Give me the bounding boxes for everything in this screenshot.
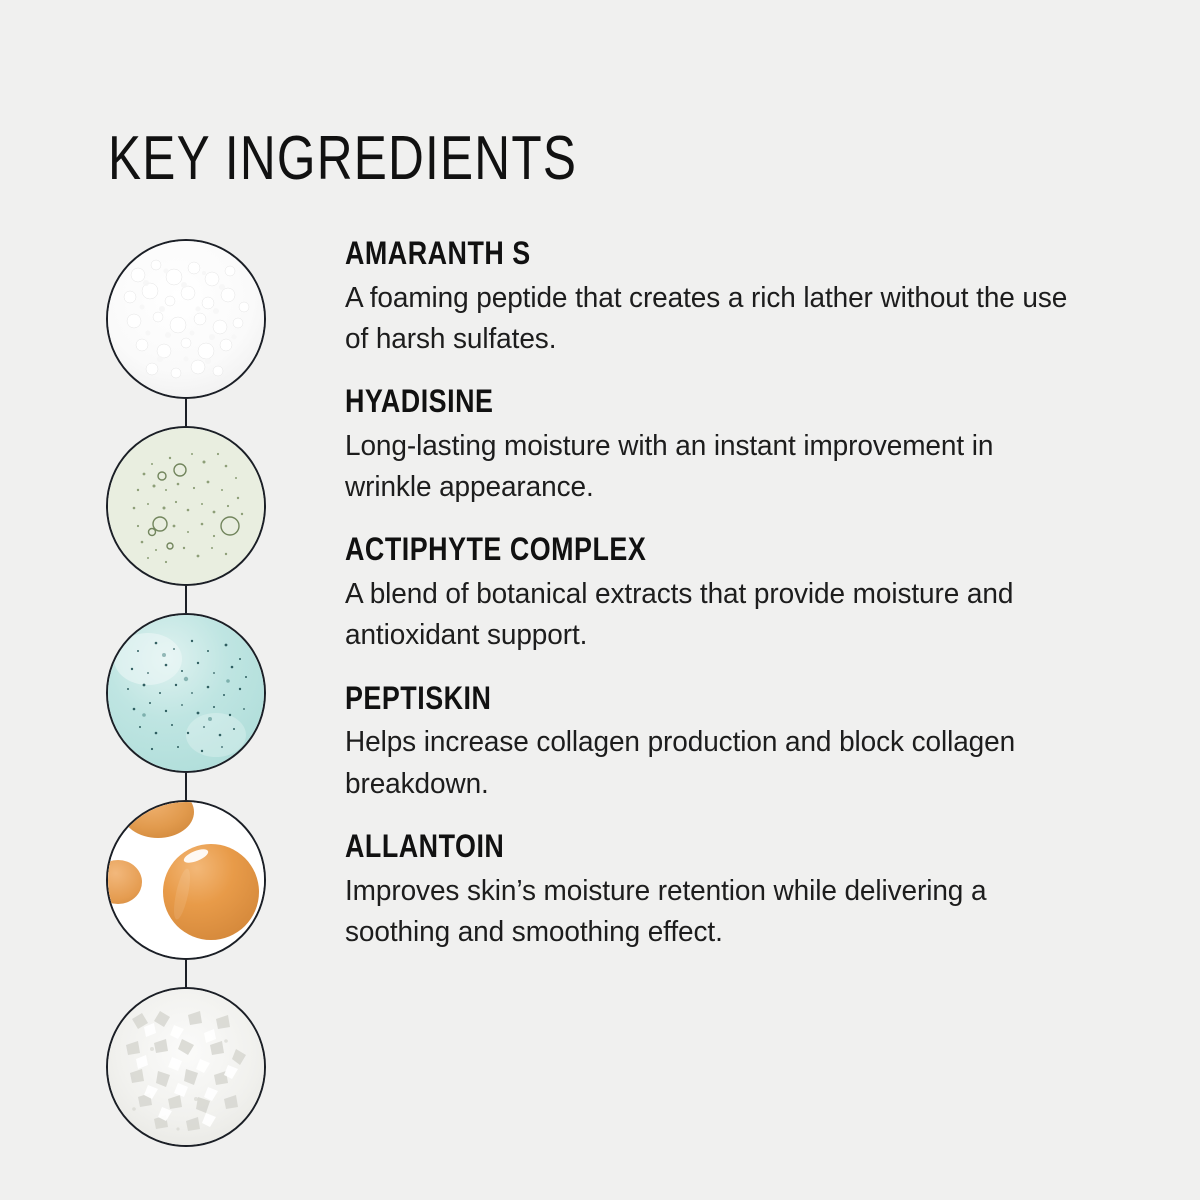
orange-droplets-swatch [106,800,266,960]
ingredient-description: Improves skin’s moisture retention while… [345,871,1078,953]
swatch-connector-line [185,399,187,426]
pale-green-gel-swatch [106,426,266,586]
ingredient-description: Helps increase collagen production and b… [345,722,1078,804]
swatch-connector-line [185,586,187,613]
ingredients-content: AMARANTH S A foaming peptide that create… [0,0,1200,1200]
ingredient-name: ACTIPHYTE COMPLEX [345,532,983,568]
ingredient-block-peptiskin: PEPTISKIN Helps increase collagen produc… [345,681,1105,805]
swatch-row-amaranth-s [106,239,266,399]
ingredient-description: A blend of botanical extracts that provi… [345,574,1078,656]
ingredient-name: HYADISINE [345,384,983,420]
key-ingredients-panel: KEY INGREDIENTS [0,0,1200,1200]
swatch-row-hyadisine [106,426,266,586]
swatch-connector-line [185,960,187,987]
ingredient-swatch-rail [106,239,266,1149]
ingredient-block-amaranth-s: AMARANTH S A foaming peptide that create… [345,236,1105,360]
swatch-row-peptiskin [106,800,266,960]
ingredient-text-column: AMARANTH S A foaming peptide that create… [345,236,1105,953]
ingredient-name: PEPTISKIN [345,681,983,717]
aqua-speckled-gel-swatch [106,613,266,773]
swatch-connector-line [185,773,187,800]
ingredient-block-allantoin: ALLANTOIN Improves skin’s moisture reten… [345,829,1105,953]
ingredient-description: A foaming peptide that creates a rich la… [345,278,1078,360]
ingredient-description: Long-lasting moisture with an instant im… [345,426,1078,508]
ingredient-name: ALLANTOIN [345,829,983,865]
swatch-row-allantoin [106,987,266,1147]
ingredient-name: AMARANTH S [345,236,983,272]
ingredient-block-hyadisine: HYADISINE Long-lasting moisture with an … [345,384,1105,508]
white-crystal-powder-swatch [106,987,266,1147]
swatch-row-actiphyte-complex [106,613,266,773]
ingredient-block-actiphyte-complex: ACTIPHYTE COMPLEX A blend of botanical e… [345,532,1105,656]
white-foam-swatch [106,239,266,399]
